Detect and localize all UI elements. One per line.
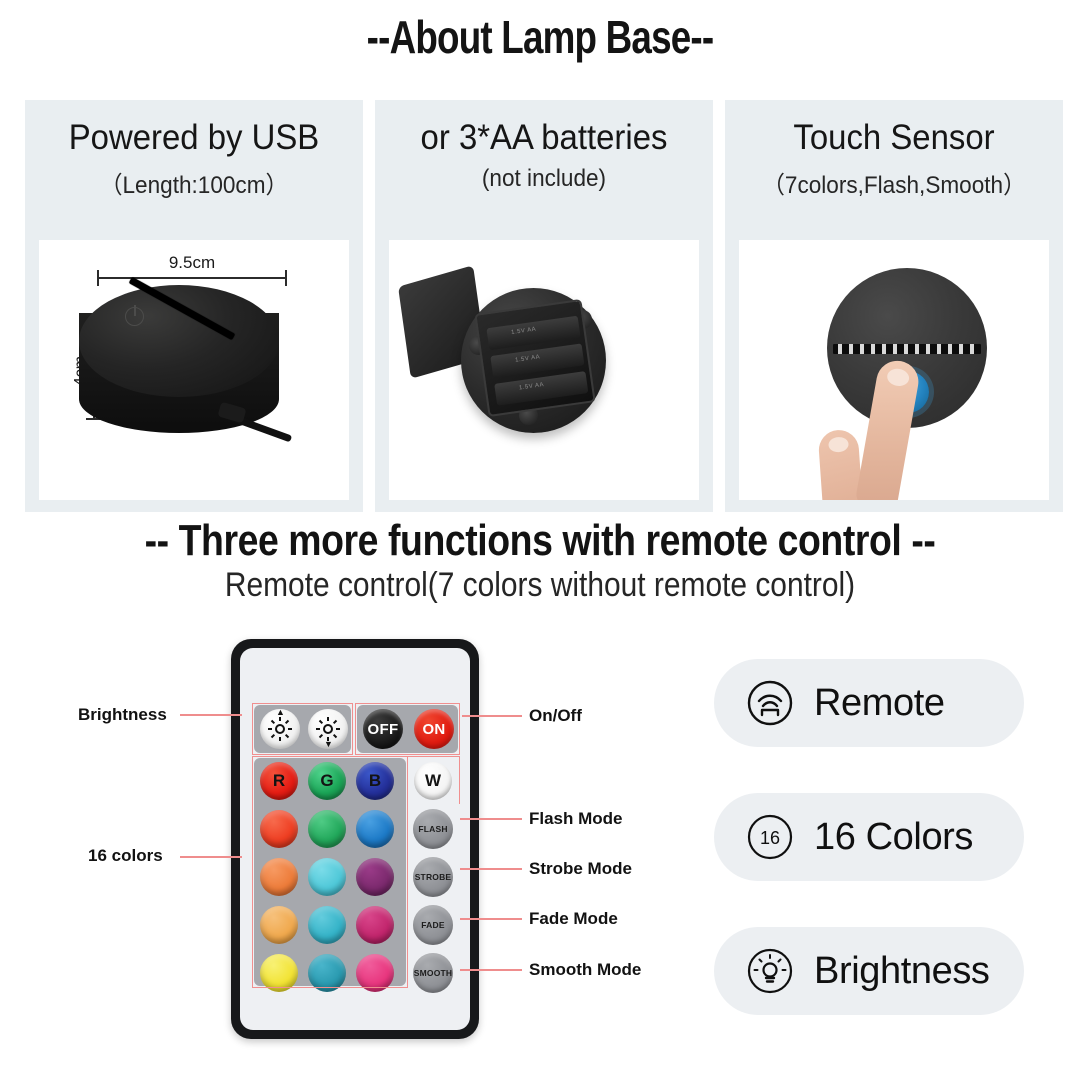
panel-3-head: Touch Sensor （7colors,Flash,Smooth） [725, 100, 1063, 200]
callout-16colors-label: 16 colors [88, 846, 163, 866]
callout-fade-line [460, 918, 522, 920]
panel-2-title: or 3*AA batteries [385, 120, 703, 157]
callout-smooth-label: Smooth Mode [529, 960, 641, 980]
battery-slot-1-label: 1.5V AA [511, 327, 537, 336]
callout-brightness-label: Brightness [78, 705, 167, 725]
width-dimension-bar [97, 277, 287, 279]
callout-brightness-line [180, 714, 242, 716]
callout-16colors-line [180, 856, 242, 858]
page-title: --About Lamp Base-- [108, 10, 972, 64]
width-dimension: 9.5cm [97, 258, 287, 284]
remote-face: ▲ ▼ OFF ON [240, 648, 470, 1030]
panel-touch-sensor: Touch Sensor （7colors,Flash,Smooth） [725, 100, 1063, 512]
smooth-mode-button[interactable]: SMOOTH [413, 953, 453, 993]
flash-mode-button[interactable]: FLASH [413, 809, 453, 849]
feature-pill-remote: Remote [714, 659, 1024, 747]
battery-cavity: 1.5V AA 1.5V AA 1.5V AA [474, 299, 595, 417]
lamp-base-infographic: --About Lamp Base-- Powered by USB （Leng… [0, 0, 1080, 1080]
lamp-base-render [79, 285, 294, 460]
battery-base-body: 1.5V AA 1.5V AA 1.5V AA [461, 288, 606, 433]
panel-2-subtitle: (not include) [385, 165, 703, 193]
feature-panels: Powered by USB （Length:100cm） 9.5cm 4cm [25, 100, 1063, 512]
power-symbol-icon [125, 307, 144, 326]
light-bulb-icon [746, 947, 794, 995]
touch-sensor-photo [739, 240, 1049, 500]
panel-3-title: Touch Sensor [735, 120, 1053, 157]
panel-3-subtitle: （7colors,Flash,Smooth） [735, 165, 1053, 200]
battery-slot-3-label: 1.5V AA [519, 382, 545, 391]
callout-onoff-line [462, 715, 522, 717]
panel-aa-batteries: or 3*AA batteries (not include) 1.5V AA … [375, 100, 713, 512]
lamp-base-top [79, 285, 279, 397]
svg-text:16: 16 [760, 828, 780, 848]
panel-1-head: Powered by USB （Length:100cm） [25, 100, 363, 200]
fade-mode-button[interactable]: FADE [413, 905, 453, 945]
panel-1-subtitle: （Length:100cm） [35, 165, 353, 200]
acrylic-slot [129, 277, 236, 340]
highlight-rgbw [252, 756, 460, 804]
callout-fade-label: Fade Mode [529, 909, 618, 929]
panel-1-title: Powered by USB [35, 120, 353, 157]
feature-pill-16-colors: 16 16 Colors [714, 793, 1024, 881]
remote-control: ▲ ▼ OFF ON [231, 639, 479, 1039]
feature-pill-list: Remote 16 16 Colors Brightness [714, 659, 1024, 1061]
strobe-mode-button[interactable]: STROBE [413, 857, 453, 897]
feature-pill-brightness: Brightness [714, 927, 1024, 1015]
width-cap-right [285, 270, 287, 286]
width-dimension-label: 9.5cm [97, 253, 287, 273]
feature-pill-brightness-label: Brightness [814, 950, 990, 993]
width-cap-left [97, 270, 99, 286]
usb-lamp-base-photo: 9.5cm 4cm [39, 240, 349, 500]
panel-powered-by-usb: Powered by USB （Length:100cm） 9.5cm 4cm [25, 100, 363, 512]
remote-section-heading: -- Three more functions with remote cont… [81, 516, 999, 566]
feature-pill-remote-label: Remote [814, 682, 945, 725]
callout-strobe-line [460, 868, 522, 870]
battery-compartment-photo: 1.5V AA 1.5V AA 1.5V AA [389, 240, 699, 500]
callout-flash-line [460, 818, 522, 820]
led-strip [833, 344, 981, 354]
highlight-brightness [252, 703, 353, 755]
panel-2-head: or 3*AA batteries (not include) [375, 100, 713, 193]
feature-pill-16-colors-label: 16 Colors [814, 816, 973, 859]
sixteen-circle-icon: 16 [746, 813, 794, 861]
battery-slot-2-label: 1.5V AA [515, 354, 541, 363]
battery-slot-3: 1.5V AA [494, 371, 588, 406]
callout-smooth-line [460, 969, 522, 971]
remote-signal-icon [746, 679, 794, 727]
callout-onoff-label: On/Off [529, 706, 582, 726]
highlight-onoff [355, 703, 460, 755]
remote-section-subheading: Remote control(7 colors without remote c… [65, 566, 1015, 605]
callout-strobe-label: Strobe Mode [529, 859, 632, 879]
callout-flash-label: Flash Mode [529, 809, 623, 829]
